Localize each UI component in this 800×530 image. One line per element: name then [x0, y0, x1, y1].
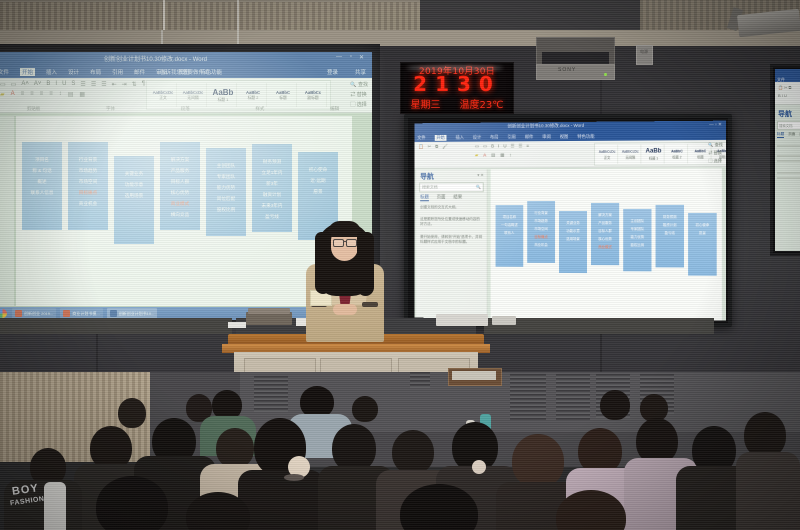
italic-icon[interactable]: I: [55, 81, 57, 88]
proj-ribbon-tabs[interactable]: 文件开始插入设计布局引用邮件审阅视图特色功能 告诉我您想要做什么... 登录 共…: [0, 66, 372, 78]
style-item-1[interactable]: AaBbCcDc无间隔: [180, 83, 207, 107]
presenter-hands: [333, 304, 357, 315]
justify-icon[interactable]: ≡: [49, 91, 53, 98]
font-tool-row[interactable]: ▭▭ A˄A˅ BI US ☰☰ ☰⇤ ⇥⇅ ¶: [0, 81, 145, 88]
audience-head: [332, 424, 376, 472]
diagram-box-4-line-4: 股权比例: [206, 204, 246, 215]
ribbon-tab-2[interactable]: 插入: [46, 68, 57, 76]
chrome-icon[interactable]: [0, 309, 7, 318]
find-icon[interactable]: 🔍 查找: [350, 81, 368, 88]
ribbon-tab-6[interactable]: 邮件: [134, 68, 145, 76]
led-clock-display: 2019年10月30日 2130 星期三 温度23℃: [400, 62, 514, 114]
diagram-box-5-line-0: 财务预测: [252, 156, 292, 167]
highlight-icon[interactable]: ▰: [0, 91, 5, 98]
style-item-3[interactable]: AaBbC标题 2: [240, 83, 267, 107]
fr-title-bar: [775, 69, 800, 76]
borders-icon[interactable]: ▦: [79, 91, 85, 98]
audience-head: [600, 390, 630, 420]
style-item-4[interactable]: AaBbC标题: [270, 83, 297, 107]
strike-icon[interactable]: S: [71, 81, 75, 88]
diagram-box-4-line-2: 能力优势: [206, 182, 246, 193]
desk-device[interactable]: [492, 316, 516, 325]
ribbon-tab-4[interactable]: 布局: [90, 68, 101, 76]
font-name-box[interactable]: ▭: [0, 81, 6, 88]
align-left-icon[interactable]: ≡: [21, 91, 25, 98]
fr-text-line: [777, 177, 800, 179]
proj-title-bar: 创新创业计划书10.30修改.docx - Word — ▫ ✕: [0, 52, 372, 66]
hair-tie: [284, 474, 304, 481]
style-preview: AaBbCcDc: [153, 90, 173, 95]
sony-screen-panel: [536, 37, 615, 66]
powerpoint-icon: [63, 310, 70, 317]
book: [248, 308, 290, 314]
ribbon-tab-0[interactable]: 文件: [0, 68, 9, 76]
right-display-tv[interactable]: 创新创业计划书10.30修改.docx - Word — ▫ ✕ 文件开始插入设…: [404, 114, 732, 327]
ribbon-group-2: 段落: [181, 106, 190, 112]
sony-wall-unit: SONY: [536, 37, 613, 82]
diagram-box-1-line-3: 目标痛点: [68, 187, 108, 198]
diagram-box-6-line-2: 愿景: [298, 186, 338, 197]
window-minimize-icon[interactable]: —: [336, 54, 342, 60]
diagram-box-0[interactable]: 项目名称 & 句话概述联系人信息: [22, 142, 62, 230]
taskbar-item-label: 商业计划书模...: [72, 311, 99, 317]
style-name: 标题 2: [248, 96, 259, 101]
diagram-box-5-line-3: 融资计划: [252, 189, 292, 200]
mic-cable: [163, 0, 165, 30]
fr-text-line: [777, 172, 800, 174]
led-glare: [407, 65, 503, 71]
paragraph-tool-row[interactable]: ▰ A ≡≡ ≡≡ ↕▤ ▦: [0, 91, 85, 98]
outlet-label: 电源: [640, 49, 648, 55]
diagram-box-4[interactable]: 主创团队专家团队能力优势岗位匹配股权比例: [206, 148, 246, 236]
show-marks-icon[interactable]: ¶: [142, 81, 145, 88]
led-time: 2130: [401, 74, 513, 94]
proj-ribbon[interactable]: ▭▭ A˄A˅ BI US ☰☰ ☰⇤ ⇥⇅ ¶ ▰ A ≡≡ ≡≡ ↕▤ ▦ …: [0, 78, 372, 113]
presenter-belt-right: [362, 302, 378, 307]
glasses-bridge: [343, 241, 346, 242]
diagram-box-0-line-1: 称 & 句话: [22, 165, 62, 176]
audience-rows: BOY FASHION: [0, 372, 800, 530]
ceiling-recess: [420, 0, 640, 30]
fr-nav-tabs[interactable]: 标题页面结果: [777, 132, 800, 138]
diagram-box-0-line-0: 项目名: [22, 154, 62, 165]
diagram-box-1-line-1: 市场趋势: [68, 165, 108, 176]
fr-nav-search[interactable]: 搜索文档: [777, 121, 800, 130]
audience-body: [736, 452, 800, 530]
audience-head: [216, 428, 254, 468]
audience-head-foreground: [96, 476, 168, 530]
style-name: 标题 1: [218, 98, 229, 103]
ribbon-tab-3[interactable]: 设计: [68, 68, 79, 76]
font-size-box[interactable]: ▭: [11, 81, 17, 88]
led-hour: 21: [413, 72, 457, 96]
powerpoint-icon: [15, 310, 22, 317]
style-name: 副标题: [307, 96, 318, 101]
sony-screen-dark: [542, 52, 609, 64]
proj-document-page[interactable]: 项目名称 & 句话概述联系人信息行业背景市场趋势市场空间目标痛点商业机会关键业务…: [16, 116, 352, 306]
ribbon-group-3: 样式: [255, 106, 264, 112]
multilevel-icon[interactable]: ☰: [101, 81, 106, 88]
diagram-box-5-line-4: 未来3年内: [252, 200, 292, 211]
audience-body: [238, 470, 324, 530]
style-preview: AaBbCc: [305, 90, 321, 95]
fr-text-line: [777, 145, 800, 147]
editing-group[interactable]: 🔍 查找 ⇄ 替换 ▢ 选择: [350, 81, 368, 108]
style-preview: AaBbC: [246, 90, 260, 95]
audience-head: [352, 396, 378, 422]
ribbon-tab-1[interactable]: 开始: [20, 68, 35, 76]
diagram-box-3-line-0: 解决方案: [160, 154, 200, 165]
window-close-icon[interactable]: ✕: [359, 54, 364, 61]
ribbon-group-1: 字体: [106, 106, 115, 112]
bullets-icon[interactable]: ☰: [80, 81, 85, 88]
audience-head: [392, 430, 434, 474]
diagram-box-0-line-2: 概述: [22, 176, 62, 187]
diagram-box-4-line-0: 主创团队: [206, 160, 246, 171]
shrink-font-icon[interactable]: A˅: [34, 81, 42, 88]
diagram-box-4-line-1: 专家团队: [206, 171, 246, 182]
diagram-box-2-line-2: 选用场景: [114, 190, 154, 201]
left-side-table: [0, 318, 232, 334]
indent-increase-icon[interactable]: ⇥: [122, 81, 127, 88]
audience-head: [512, 434, 564, 488]
replace-icon[interactable]: ⇄ 替换: [350, 91, 368, 98]
tv-word-window[interactable]: 创新创业计划书10.30修改.docx - Word — ▫ ✕ 文件开始插入设…: [414, 121, 726, 321]
proj-document-title: 创新创业计划书10.30修改.docx - Word: [104, 54, 207, 63]
power-led-icon: [604, 73, 607, 76]
fr-tools-2[interactable]: B I U: [778, 93, 787, 98]
diagram-box-1-line-2: 市场空间: [68, 176, 108, 187]
style-item-5[interactable]: AaBbCc副标题: [300, 83, 327, 107]
paper-sheet: [228, 322, 246, 328]
led-temperature: 温度23℃: [460, 96, 504, 111]
fr-text-line: [777, 155, 800, 157]
sort-icon[interactable]: ⇅: [132, 81, 137, 88]
nav-tab-1[interactable]: 页面: [788, 132, 795, 138]
far-right-display[interactable]: 文件 📋 ✂ ⧉ B I U 导航 搜索文档 标题页面结果: [770, 64, 800, 256]
taskbar-item-label: 创新创业计划书10...: [119, 311, 155, 317]
led-minute: 30: [457, 72, 501, 96]
diagram-box-6-line-0: 初心使命: [298, 164, 338, 175]
presenter-hair-left: [315, 232, 331, 294]
grow-font-icon[interactable]: A˄: [21, 81, 29, 88]
nav-tab-0[interactable]: 标题: [777, 132, 784, 138]
bold-icon[interactable]: B: [46, 81, 50, 88]
audience-head: [118, 398, 146, 428]
ceiling: [0, 0, 800, 46]
style-item-0[interactable]: AaBbCcDc正文: [150, 83, 177, 107]
diagram-box-3-line-5: 横向竞品: [160, 209, 200, 220]
style-preview: AaBb: [213, 88, 234, 97]
far-right-word-window[interactable]: 文件 📋 ✂ ⧉ B I U 导航 搜索文档 标题页面结果: [775, 69, 800, 251]
keyboard-device[interactable]: [436, 314, 488, 326]
style-name: 正文: [159, 96, 167, 101]
diagram-box-3-line-2: 目标人群: [160, 176, 200, 187]
diagram-box-1-line-4: 商业机会: [68, 198, 108, 209]
word-icon: [110, 310, 117, 317]
style-item-2[interactable]: AaBb标题 1: [210, 83, 237, 107]
font-color-icon[interactable]: A: [11, 91, 15, 98]
ribbon-group-4: 编辑: [330, 106, 339, 112]
diagram-box-3-line-3: 核心优势: [160, 187, 200, 198]
ribbon-group-0: 剪贴板: [27, 106, 41, 112]
led-bottom-row: 星期三 温度23℃: [401, 96, 513, 111]
glasses-icon: [346, 239, 357, 247]
window-maximize-icon[interactable]: ▫: [350, 54, 352, 60]
diagram-box-2-line-1: 功能示意: [114, 179, 154, 190]
diagram-box-3[interactable]: 解决方案产品服务目标人群核心优势商业模式横向竞品: [160, 142, 200, 230]
hair-bun-scrunchie: [472, 460, 486, 474]
diagram-box-1-line-0: 行业背景: [68, 154, 108, 165]
shading-icon[interactable]: ▤: [68, 91, 74, 98]
diagram-box-0-line-3: 联系人信息: [22, 187, 62, 198]
diagram-box-3-line-1: 产品服务: [160, 165, 200, 176]
underline-icon[interactable]: U: [62, 81, 66, 88]
indent-decrease-icon[interactable]: ⇤: [112, 81, 117, 88]
diagram-box-5-line-5: 盈亏线: [252, 211, 292, 222]
align-center-icon[interactable]: ≡: [30, 91, 34, 98]
fr-ribbon[interactable]: 📋 ✂ ⧉ B I U: [775, 82, 800, 105]
right-side-table: [484, 318, 714, 334]
tell-me-search[interactable]: 告诉我您想要做什么...: [160, 68, 214, 76]
diagram-box-5-line-1: 立足1年内: [252, 167, 292, 178]
led-weekday: 星期三: [411, 96, 441, 111]
diagram-box-1[interactable]: 行业背景市场趋势市场空间目标痛点商业机会: [68, 142, 108, 230]
line-spacing-icon[interactable]: ↕: [59, 91, 62, 98]
ribbon-tab-5[interactable]: 引用: [112, 68, 123, 76]
fr-text-line: [777, 160, 800, 162]
diagram-box-5-line-2: 新3年: [252, 178, 292, 189]
fr-search-placeholder: 搜索文档: [779, 123, 793, 128]
style-name: 标题: [279, 96, 287, 101]
diagram-box-2[interactable]: 关键业务功能示意选用场景: [114, 156, 154, 244]
align-right-icon[interactable]: ≡: [40, 91, 44, 98]
audience-shirt: [44, 482, 66, 530]
diagram-box-2-line-0: 关键业务: [114, 168, 154, 179]
diagram-box-3-line-4: 商业模式: [160, 198, 200, 209]
style-name: 无间隔: [187, 96, 198, 101]
diagram-box-4-line-3: 岗位匹配: [206, 193, 246, 204]
ribbon-group-labels: 剪贴板字体段落样式编辑: [0, 106, 372, 112]
proj-left-margin: [0, 116, 14, 306]
sony-brand-label: SONY: [558, 67, 576, 73]
style-preview: AaBbCcDc: [183, 90, 203, 95]
fr-tools[interactable]: 📋 ✂ ⧉: [778, 85, 791, 90]
account-label[interactable]: 登录: [327, 68, 338, 76]
taskbar-item-label: 创新创业 2019...: [24, 311, 53, 317]
lecture-hall-photo: SONY 电源 2019年10月30日 2130 星期三 温度23℃ 创新创业计…: [0, 0, 800, 530]
share-button[interactable]: 共享: [355, 68, 366, 76]
fr-nav-heading: 导航: [778, 109, 792, 119]
presenter-hair-right: [357, 232, 374, 296]
diagram-box-5[interactable]: 财务预测立足1年内新3年融资计划未来3年内盈亏线: [252, 144, 292, 232]
numbering-icon[interactable]: ☰: [91, 81, 96, 88]
diagram-box-6-line-1: 近-远期: [298, 175, 338, 186]
style-preview: AaBbC: [276, 90, 290, 95]
wall-outlet[interactable]: 电源: [636, 45, 653, 65]
